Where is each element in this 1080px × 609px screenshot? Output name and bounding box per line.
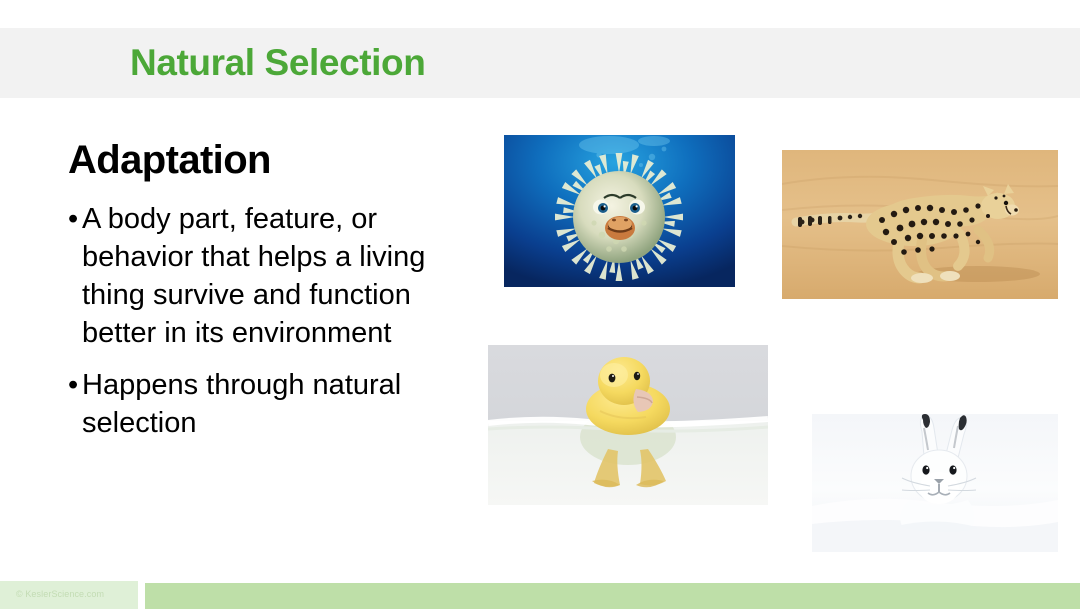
- footer-bar: [145, 583, 1080, 609]
- bullet-text: A body part, feature, or behavior that h…: [82, 200, 488, 352]
- bullet-list: • A body part, feature, or behavior that…: [68, 200, 488, 456]
- duckling-photo: [488, 345, 768, 505]
- bullet-marker-icon: •: [68, 366, 82, 404]
- cheetah-photo: [782, 150, 1058, 299]
- bullet-text: Happens through natural selection: [82, 366, 488, 442]
- pufferfish-photo: [504, 135, 735, 287]
- list-item: • A body part, feature, or behavior that…: [68, 200, 488, 352]
- content-heading: Adaptation: [68, 138, 271, 183]
- page-title: Natural Selection: [130, 42, 425, 84]
- arctic-hare-photo: [812, 414, 1058, 552]
- bullet-marker-icon: •: [68, 200, 82, 238]
- footer-credit: © KeslerScience.com: [16, 589, 104, 599]
- list-item: • Happens through natural selection: [68, 366, 488, 442]
- slide-canvas: Natural Selection Adaptation • A body pa…: [0, 0, 1080, 609]
